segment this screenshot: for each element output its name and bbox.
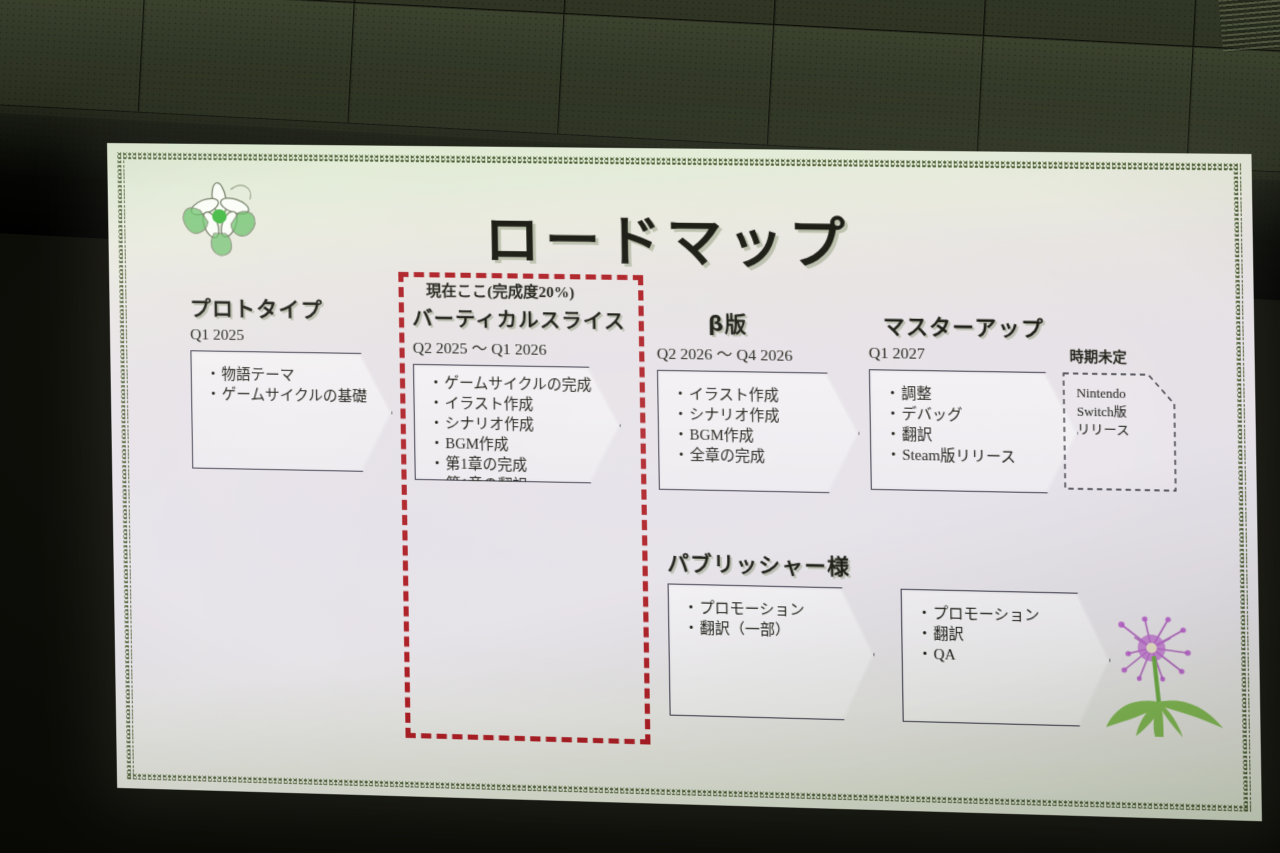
phase-prototype: プロトタイプ Q1 2025 物語テーマ ゲームサイクルの基礎 — [189, 292, 399, 472]
green-flower-icon — [170, 174, 270, 261]
slide-title: ロードマップ — [484, 195, 851, 280]
phase-tbd-switch: 時期未定 NintendoSwitch版リリース — [1061, 345, 1191, 494]
phase-title: マスターアップ — [883, 310, 1090, 344]
list-item: 翻訳（一部） — [684, 618, 863, 643]
list-item: Steam版リリース — [886, 445, 1067, 469]
phase-date: Q1 2025 — [190, 326, 397, 347]
phase-items-box: 調整 デバッグ 翻訳 Steam版リリース — [869, 369, 1079, 494]
publisher-box: プロモーション 翻訳（一部） — [668, 583, 876, 721]
phase-beta: β版 Q2 2026 〜 Q4 2026 イラスト作成 シナリオ作成 BGM作成… — [656, 307, 872, 494]
phase-items-box: イラスト作成 シナリオ作成 BGM作成 全章の完成 — [657, 370, 860, 494]
publisher-box: プロモーション 翻訳 QA — [901, 589, 1112, 728]
phase-date: Q1 2027 — [869, 345, 1090, 367]
current-phase-highlight-box — [398, 272, 650, 745]
projection-screen: ロードマップ プロトタイプ Q1 2025 物語テーマ ゲームサイクルの基礎 現… — [0, 0, 1280, 853]
phase-items-box: 物語テーマ ゲームサイクルの基礎 — [190, 350, 393, 472]
tbd-items-box: NintendoSwitch版リリース — [1061, 371, 1190, 493]
roadmap-slide: ロードマップ プロトタイプ Q1 2025 物語テーマ ゲームサイクルの基礎 現… — [107, 143, 1262, 821]
photo-scene: ロードマップ プロトタイプ Q1 2025 物語テーマ ゲームサイクルの基礎 現… — [0, 0, 1280, 853]
publisher-section: パブリッシャー様 プロモーション 翻訳（一部） プロモーション 翻訳 — [667, 547, 1131, 728]
phase-title: β版 — [708, 308, 870, 341]
phase-date: Q2 2026 〜 Q4 2026 — [657, 341, 870, 367]
phase-title: プロトタイプ — [189, 292, 397, 325]
tbd-label: 時期未定 — [1069, 345, 1188, 367]
tbd-text: NintendoSwitch版リリース — [1076, 384, 1129, 441]
phase-master-up: マスターアップ Q1 2027 調整 デバッグ 翻訳 Steam版リリース — [868, 310, 1092, 494]
purple-flower-icon — [1102, 606, 1232, 739]
list-item: 全章の完成 — [674, 445, 849, 469]
list-item: ゲームサイクルの基礎 — [206, 385, 381, 408]
